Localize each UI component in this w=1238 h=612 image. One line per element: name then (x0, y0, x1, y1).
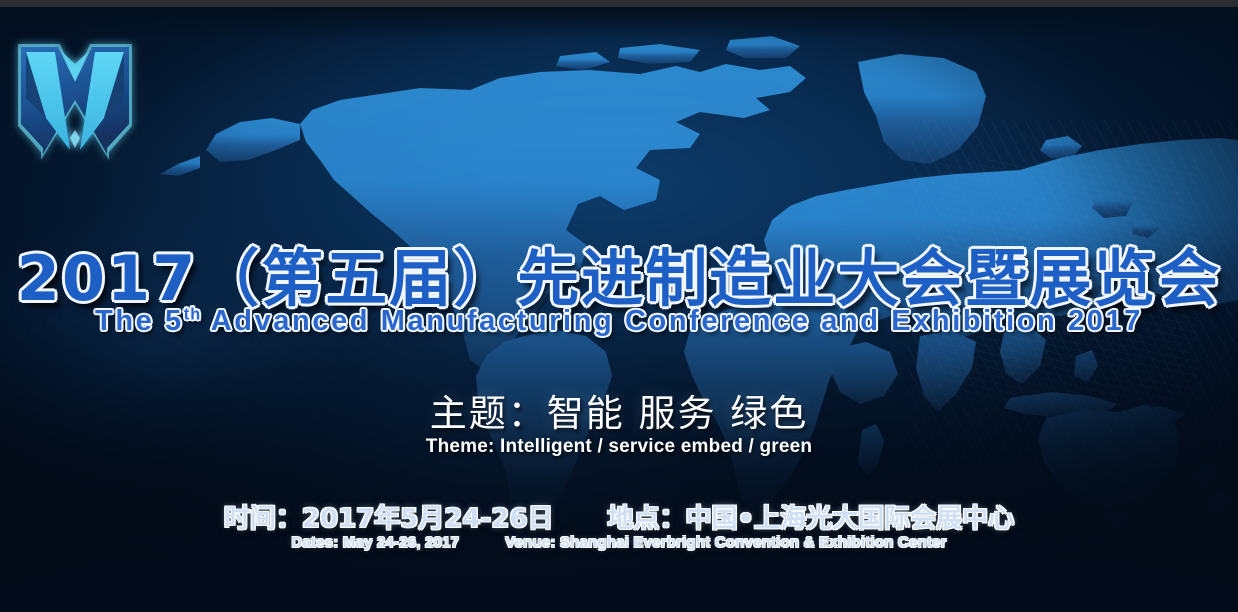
date-venue-line-chinese: 时间：2017年5月24-26日地点：中国•上海光大国际会展中心 (0, 498, 1238, 535)
date-value-chinese: 2017年5月24-26日 (302, 504, 554, 534)
title-en-rest: Advanced Manufacturing Conference and Ex… (201, 305, 1143, 337)
title-en-prefix: The 5 (95, 305, 184, 337)
banner-text-stage: 2017（第五届）先进制造业大会暨展览会 The 5th Advanced Ma… (0, 0, 1238, 612)
theme-line-chinese: 主题：智能 服务 绿色 (0, 383, 1238, 437)
date-venue-line-english: Dates: May 24-26, 2017Venue: Shanghai Ev… (0, 534, 1238, 551)
conference-banner: 2017（第五届）先进制造业大会暨展览会 The 5th Advanced Ma… (0, 0, 1238, 612)
date-english: Dates: May 24-26, 2017 (291, 534, 459, 551)
main-title-english: The 5th Advanced Manufacturing Conferenc… (0, 305, 1238, 338)
theme-line-english: Theme: Intelligent / service embed / gre… (0, 436, 1238, 458)
title-en-ordinal-suffix: th (184, 305, 201, 323)
venue-value-chinese: 中国•上海光大国际会展中心 (686, 504, 1015, 534)
venue-english: Venue: Shanghai Everbright Convention & … (505, 534, 946, 551)
venue-label-chinese: 地点： (607, 504, 685, 534)
date-label-chinese: 时间： (224, 504, 302, 534)
